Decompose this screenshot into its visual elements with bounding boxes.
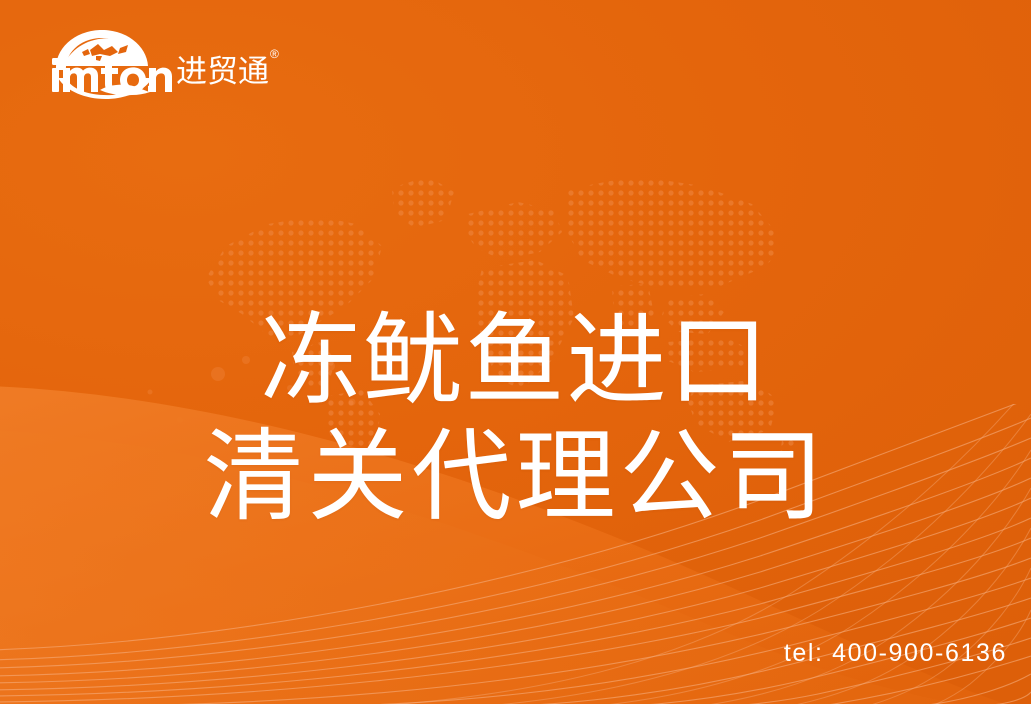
registered-trademark-icon: ® xyxy=(270,48,279,60)
brand-logo[interactable]: 进贸通 ® xyxy=(34,30,214,102)
headline-line-2: 清关代理公司 xyxy=(0,419,1031,535)
headline-line-1: 冻鱿鱼进口 xyxy=(0,303,1031,419)
contact-telephone[interactable]: tel: 400-900-6136 xyxy=(784,639,1007,668)
logo-chinese-name: 进贸通 xyxy=(176,52,269,92)
page-title: 冻鱿鱼进口 清关代理公司 xyxy=(0,303,1031,535)
promo-banner: 进贸通 ® 冻鱿鱼进口 清关代理公司 tel: 400-900-6136 xyxy=(0,0,1031,704)
logo-chinese-name-wrap: 进贸通 ® xyxy=(176,52,296,92)
